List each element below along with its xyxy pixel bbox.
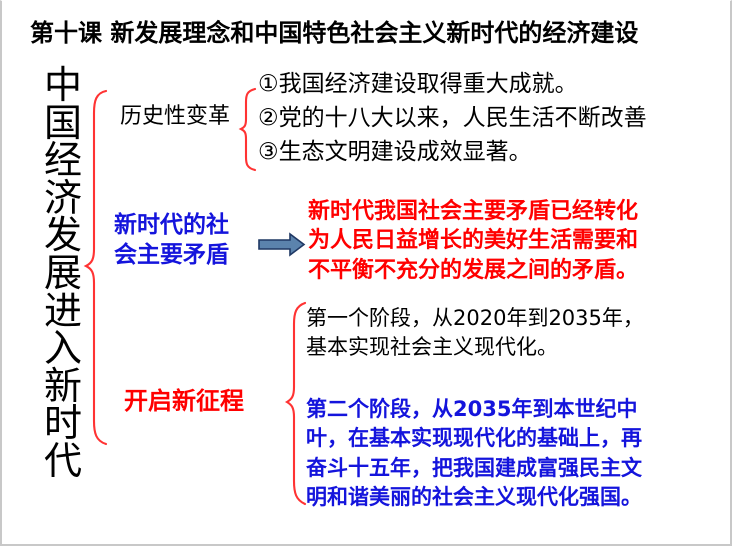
branch-label-historic: 历史性变革: [120, 104, 230, 130]
content-contradiction-statement: 新时代我国社会主要矛盾已经转化 为人民日益增长的美好生活需要和 不平衡不充分的发…: [308, 197, 638, 285]
stage-one-line: 基本实现社会主义现代化。: [306, 333, 644, 362]
root-char: 进: [40, 293, 86, 331]
branch-label-line: 新时代的社: [114, 210, 229, 240]
branch-label-line: 会主要矛盾: [114, 240, 229, 270]
page-title: 第十课 新发展理念和中国特色社会主义新时代的经济建设: [30, 18, 638, 49]
root-char: 济: [40, 180, 86, 218]
root-char: 发: [40, 217, 86, 255]
achievement-item: ①我国经济建设取得重大成就。: [258, 67, 647, 101]
slide-canvas: 第十课 新发展理念和中国特色社会主义新时代的经济建设 中 国 经 济 发 展 进…: [0, 0, 732, 546]
root-char: 入: [40, 330, 86, 368]
stage-two-line: 明和谐美丽的社会主义现代化强国。: [306, 483, 642, 512]
right-arrow-icon: [259, 234, 304, 255]
content-achievements: ①我国经济建设取得重大成就。 ②党的十八大以来，人民生活不断改善 ③生态文明建设…: [258, 67, 647, 169]
contradiction-line: 新时代我国社会主要矛盾已经转化: [308, 197, 638, 226]
root-char: 经: [40, 142, 86, 180]
contradiction-line: 不平衡不充分的发展之间的矛盾。: [308, 256, 638, 285]
achievement-item: ②党的十八大以来，人民生活不断改善: [258, 101, 647, 135]
content-stage-one: 第一个阶段，从2020年到2035年， 基本实现社会主义现代化。: [306, 304, 644, 362]
root-vertical-label: 中 国 经 济 发 展 进 入 新 时 代: [40, 67, 86, 481]
achievement-item: ③生态文明建设成效显著。: [258, 135, 647, 169]
root-char: 代: [40, 443, 86, 481]
root-char: 展: [40, 255, 86, 293]
content-stage-two: 第二个阶段，从2035年到本世纪中 叶，在基本实现现代化的基础上，再 奋斗十五年…: [306, 395, 642, 513]
stage-two-line: 第二个阶段，从2035年到本世纪中: [306, 395, 642, 424]
stage-one-line: 第一个阶段，从2020年到2035年，: [306, 304, 644, 333]
root-char: 新: [40, 368, 86, 406]
stage-two-line: 叶，在基本实现现代化的基础上，再: [306, 424, 642, 453]
left-brace-large-icon: [86, 91, 106, 444]
branch-label-contradiction: 新时代的社 会主要矛盾: [114, 210, 229, 271]
root-char: 中: [40, 67, 86, 105]
left-brace-small-icon: [241, 89, 255, 170]
root-char: 国: [40, 105, 86, 143]
contradiction-line: 为人民日益增长的美好生活需要和: [308, 226, 638, 255]
root-char: 时: [40, 405, 86, 443]
stage-two-line: 奋斗十五年，把我国建成富强民主文: [306, 454, 642, 483]
left-brace-medium-icon: [287, 303, 305, 504]
branch-label-newjourney: 开启新征程: [124, 387, 244, 415]
